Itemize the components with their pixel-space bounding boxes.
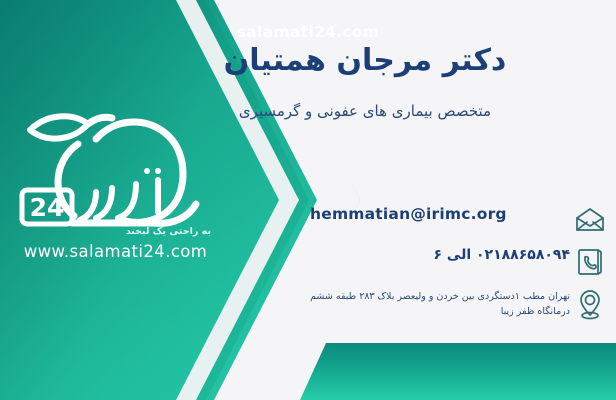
phone-value[interactable]: ۰۲۱۸۸۶۵۸۰۹۴ الی ۶ xyxy=(310,245,570,263)
brand-website[interactable]: www.salamati24.com xyxy=(8,242,223,261)
doctor-specialty: متخصص بیماری های عفونی و گرمسیری xyxy=(130,100,600,123)
brand-tagline: به راحتی یک لبخند xyxy=(126,226,211,237)
address-line-2: درمانگاه ظفر زیبا xyxy=(310,304,570,319)
contact-row-phone[interactable]: ۰۲۱۸۸۶۵۸۰۹۴ الی ۶ xyxy=(310,245,610,279)
contact-row-address[interactable]: تهران مطب ۱دستگردی بین خردن و ولیعصر بلا… xyxy=(310,287,610,321)
address-line-1: تهران مطب ۱دستگردی بین خردن و ولیعصر بلا… xyxy=(310,289,570,304)
contact-list: hemmatian@irimc.org ۰۲۱۸۸۶۵۸۰۹۴ الی ۶ xyxy=(310,203,610,329)
address-value[interactable]: تهران مطب ۱دستگردی بین خردن و ولیعصر بلا… xyxy=(310,287,570,319)
svg-text:24: 24 xyxy=(30,193,65,222)
email-value[interactable]: hemmatian@irimc.org xyxy=(310,203,570,223)
footer-website[interactable]: salamati24.com xyxy=(0,0,616,57)
phone-book-icon xyxy=(570,245,610,279)
envelope-icon xyxy=(570,203,610,237)
location-pin-icon xyxy=(570,287,610,321)
business-card-banner: 24 به راحتی یک لبخند www.salamati24.com … xyxy=(0,0,616,400)
contact-row-email[interactable]: hemmatian@irimc.org xyxy=(310,203,610,237)
